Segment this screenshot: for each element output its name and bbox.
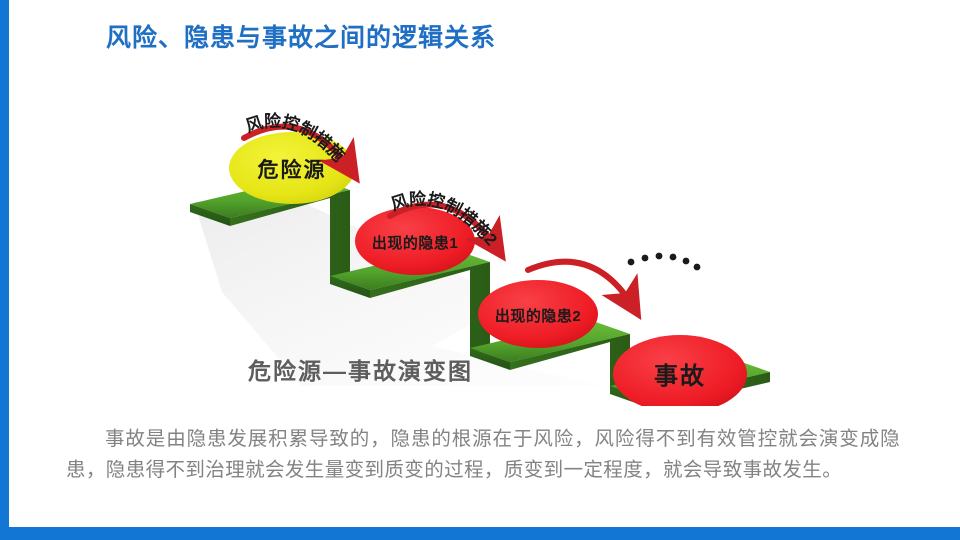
node-accident-label: 事故 [654,363,706,390]
node-hazard-source-label: 危险源 [258,158,327,182]
page-title: 风险、隐患与事故之间的逻辑关系 [106,18,496,54]
node-hidden-danger-2-label: 出现的隐患2 [495,307,581,325]
body-paragraph: 事故是由隐患发展积累导致的，隐患的根源在于风险，风险得不到有效管控就会演变成隐患… [66,424,900,486]
node-hidden-danger-1-label: 出现的隐患1 [372,234,458,252]
slide-border-bottom [0,527,960,540]
dotted-ellipsis-icon [628,253,701,271]
node-accident[interactable]: 事故 [613,335,747,406]
slide-border-left [0,0,9,540]
slide: 风险、隐患与事故之间的逻辑关系 [0,0,960,540]
diagram-caption: 危险源—事故演变图 [248,352,473,386]
node-hidden-danger-2[interactable]: 出现的隐患2 [478,280,598,348]
